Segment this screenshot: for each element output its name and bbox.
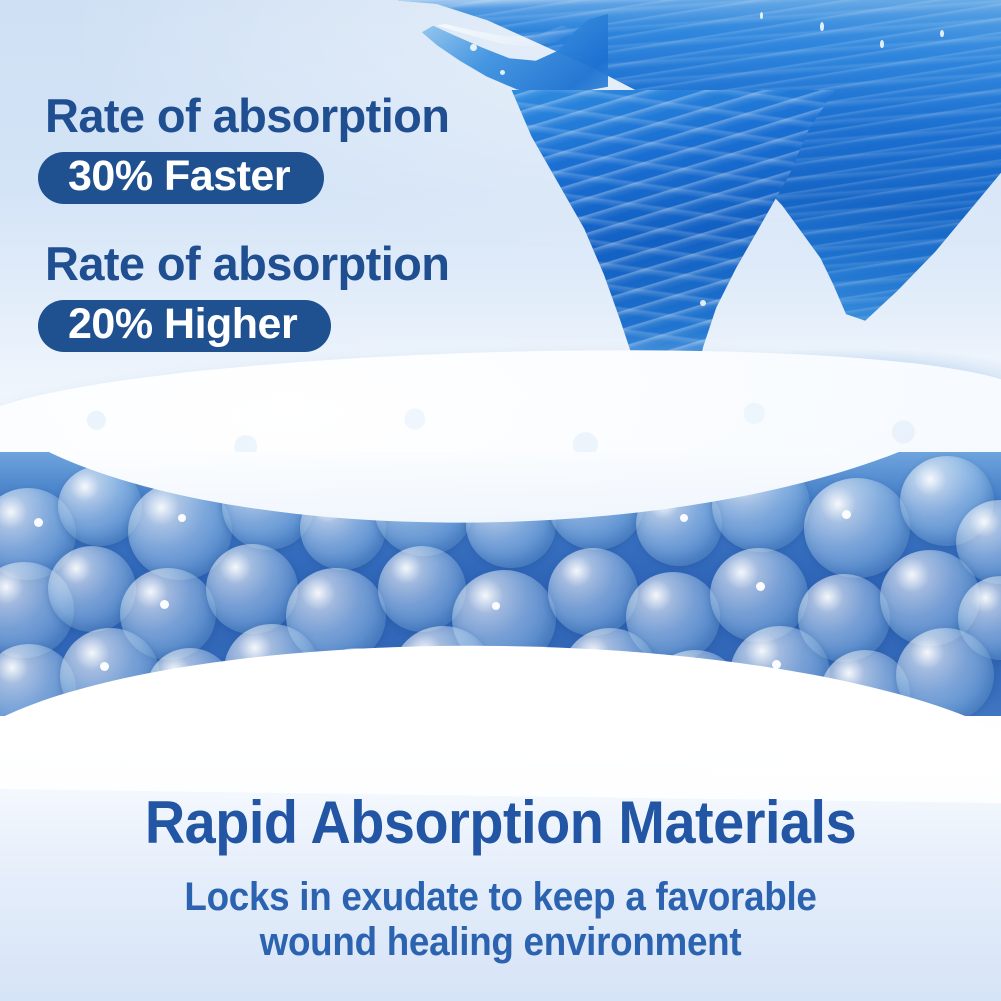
- gel-bead: [206, 544, 298, 634]
- water-droplet: [470, 44, 477, 51]
- product-feature-image: Rate of absorption 30% Faster Rate of ab…: [0, 0, 1001, 1001]
- claim-kicker-1: Rate of absorption: [45, 92, 449, 139]
- water-droplet: [940, 30, 944, 37]
- page-subtitle-line-2: wound healing environment: [40, 920, 961, 965]
- bead-highlight: [842, 510, 851, 519]
- gel-bead: [548, 548, 638, 636]
- page-subtitle: Locks in exudate to keep a favorable wou…: [40, 875, 961, 965]
- water-droplet: [700, 300, 706, 306]
- bead-highlight: [178, 514, 186, 522]
- bead-highlight: [492, 602, 500, 610]
- claim-badge-2-label: 20% Higher: [68, 303, 297, 346]
- page-subtitle-line-1: Locks in exudate to keep a favorable: [40, 875, 961, 920]
- bead-highlight: [756, 582, 765, 591]
- claim-badge-2: 20% Higher: [38, 300, 331, 352]
- claim-badge-1: 30% Faster: [38, 152, 324, 204]
- claim-badge-1-label: 30% Faster: [68, 155, 290, 198]
- water-droplet: [760, 12, 763, 19]
- bead-highlight: [160, 600, 169, 609]
- water-droplet: [820, 22, 824, 31]
- bead-highlight: [680, 514, 688, 522]
- bead-highlight: [100, 662, 109, 671]
- page-title: Rapid Absorption Materials: [35, 793, 966, 853]
- water-droplet: [500, 70, 505, 75]
- claim-kicker-2: Rate of absorption: [45, 240, 449, 287]
- water-droplet: [880, 40, 884, 48]
- bead-highlight: [34, 518, 43, 527]
